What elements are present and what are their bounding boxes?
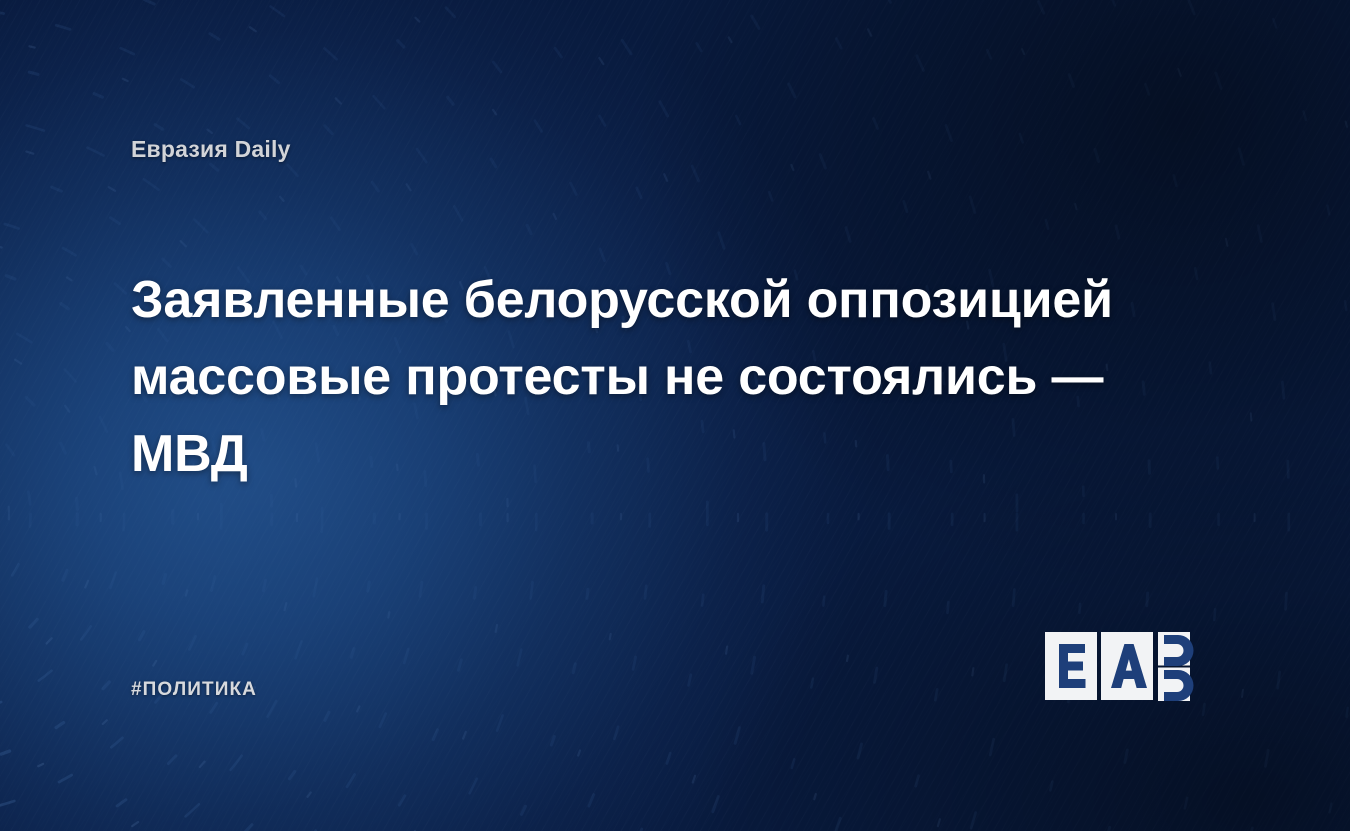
brand-label: Евразия Daily bbox=[131, 136, 291, 163]
category-hashtag: #ПОЛИТИКА bbox=[131, 679, 257, 701]
card-content: Евразия Daily Заявленные белорусской опп… bbox=[0, 0, 1350, 831]
logo-letter-e-glyph bbox=[1059, 644, 1086, 688]
eadaily-logo[interactable] bbox=[1045, 631, 1221, 701]
news-share-card: Евразия Daily Заявленные белорусской опп… bbox=[0, 0, 1350, 831]
headline-title: Заявленные белорусской оппозицией массов… bbox=[131, 262, 1191, 493]
